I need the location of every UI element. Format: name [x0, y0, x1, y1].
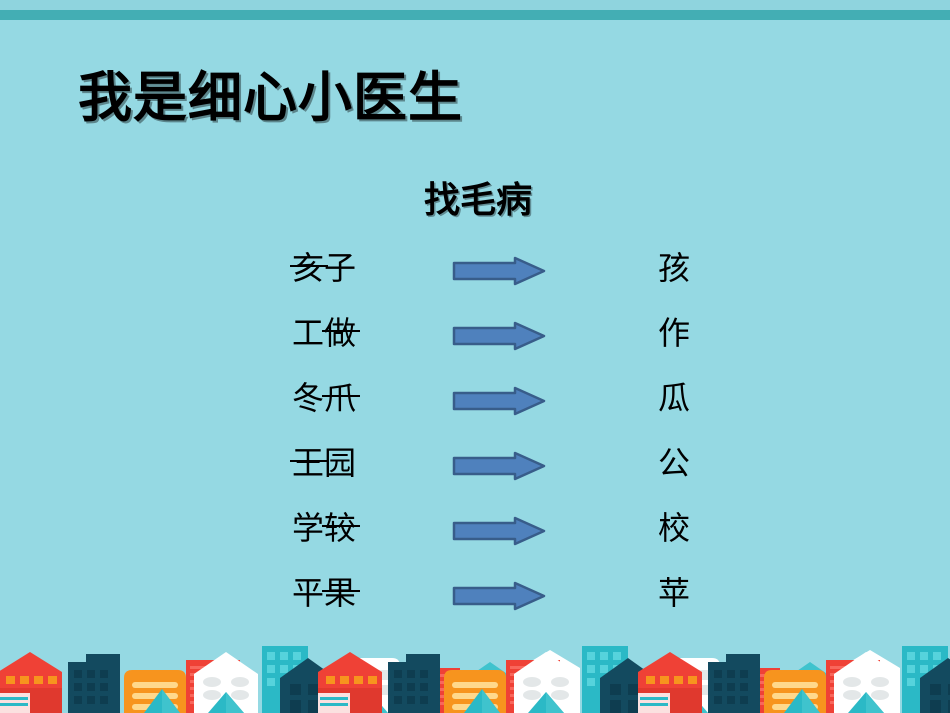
- wrong-word-prefix: 工: [292, 314, 324, 352]
- right-block-arrow-icon: [452, 386, 546, 416]
- right-block-arrow-icon: [452, 256, 546, 286]
- wrong-word: 工做: [292, 313, 356, 353]
- wrong-char: 果: [324, 574, 356, 612]
- wrong-word-suffix: 园: [324, 444, 356, 482]
- correct-word: 作: [658, 313, 690, 353]
- subtitle: 找毛病: [424, 181, 532, 221]
- wrong-word: 冬爪: [292, 378, 356, 418]
- right-block-arrow-icon: [452, 516, 546, 546]
- wrong-char: 亥: [292, 249, 324, 287]
- wrong-word-prefix: 冬: [292, 379, 324, 417]
- wrong-char: 王: [292, 444, 324, 482]
- wrong-char: 较: [324, 509, 356, 547]
- wrong-char: 做: [324, 314, 356, 352]
- word-pair-row: 学较 校: [0, 508, 950, 573]
- correct-word: 苹: [658, 573, 690, 613]
- word-pair-row: 工做 作: [0, 313, 950, 378]
- word-pair-row: 冬爪 瓜: [0, 378, 950, 443]
- wrong-char: 爪: [324, 379, 356, 417]
- top-band-dark: [0, 10, 950, 20]
- correct-word: 校: [658, 508, 690, 548]
- wrong-word-prefix: 平: [292, 574, 324, 612]
- page-title: 我是细心小医生: [78, 68, 463, 127]
- wrong-word: 平果: [292, 573, 356, 613]
- right-block-arrow-icon: [452, 321, 546, 351]
- wrong-word-prefix: 学: [292, 509, 324, 547]
- correct-word: 瓜: [658, 378, 690, 418]
- top-band-light: [0, 0, 950, 10]
- word-pair-list: 亥子 孩 工做 作 冬爪 瓜 王园: [0, 248, 950, 638]
- wrong-word: 亥子: [292, 248, 356, 288]
- correct-word: 公: [658, 443, 690, 483]
- word-pair-row: 王园 公: [0, 443, 950, 508]
- slide-canvas: 我是细心小医生 找毛病 亥子 孩 工做 作 冬爪 瓜: [0, 0, 950, 713]
- word-pair-row: 平果 苹: [0, 573, 950, 638]
- wrong-word: 学较: [292, 508, 356, 548]
- wrong-word-suffix: 子: [324, 249, 356, 287]
- cityscape-decoration: [0, 640, 950, 713]
- correct-word: 孩: [658, 248, 690, 288]
- wrong-word: 王园: [292, 443, 356, 483]
- word-pair-row: 亥子 孩: [0, 248, 950, 313]
- right-block-arrow-icon: [452, 451, 546, 481]
- right-block-arrow-icon: [452, 581, 546, 611]
